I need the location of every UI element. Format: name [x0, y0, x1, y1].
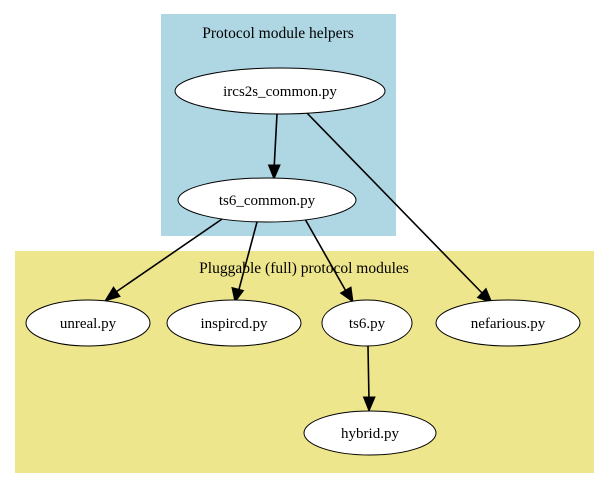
node-hybrid[interactable]: hybrid.py	[304, 411, 436, 455]
cluster-helpers-label: Protocol module helpers	[202, 25, 354, 42]
cluster-pluggable-label: Pluggable (full) protocol modules	[199, 260, 409, 277]
graph-svg: Protocol module helpers Pluggable (full)…	[0, 0, 609, 490]
cluster-pluggable: Pluggable (full) protocol modules	[15, 251, 594, 473]
node-inspircd[interactable]: inspircd.py	[167, 300, 301, 346]
node-label: hybrid.py	[341, 426, 399, 442]
node-label: inspircd.py	[200, 316, 268, 332]
node-label: unreal.py	[60, 316, 117, 332]
node-unreal[interactable]: unreal.py	[26, 300, 150, 346]
cluster-pluggable-rect	[15, 251, 594, 473]
diagram-canvas: Protocol module helpers Pluggable (full)…	[0, 0, 609, 490]
node-label: ts6_common.py	[219, 193, 316, 209]
node-ts6[interactable]: ts6.py	[322, 300, 412, 346]
node-ts6_common[interactable]: ts6_common.py	[178, 178, 356, 222]
node-label: ircs2s_common.py	[223, 84, 337, 100]
node-label: ts6.py	[349, 316, 386, 332]
edge-line	[368, 346, 369, 401]
node-label: nefarious.py	[471, 316, 546, 332]
node-ircs2s_common[interactable]: ircs2s_common.py	[175, 68, 385, 114]
node-nefarious[interactable]: nefarious.py	[436, 300, 580, 346]
